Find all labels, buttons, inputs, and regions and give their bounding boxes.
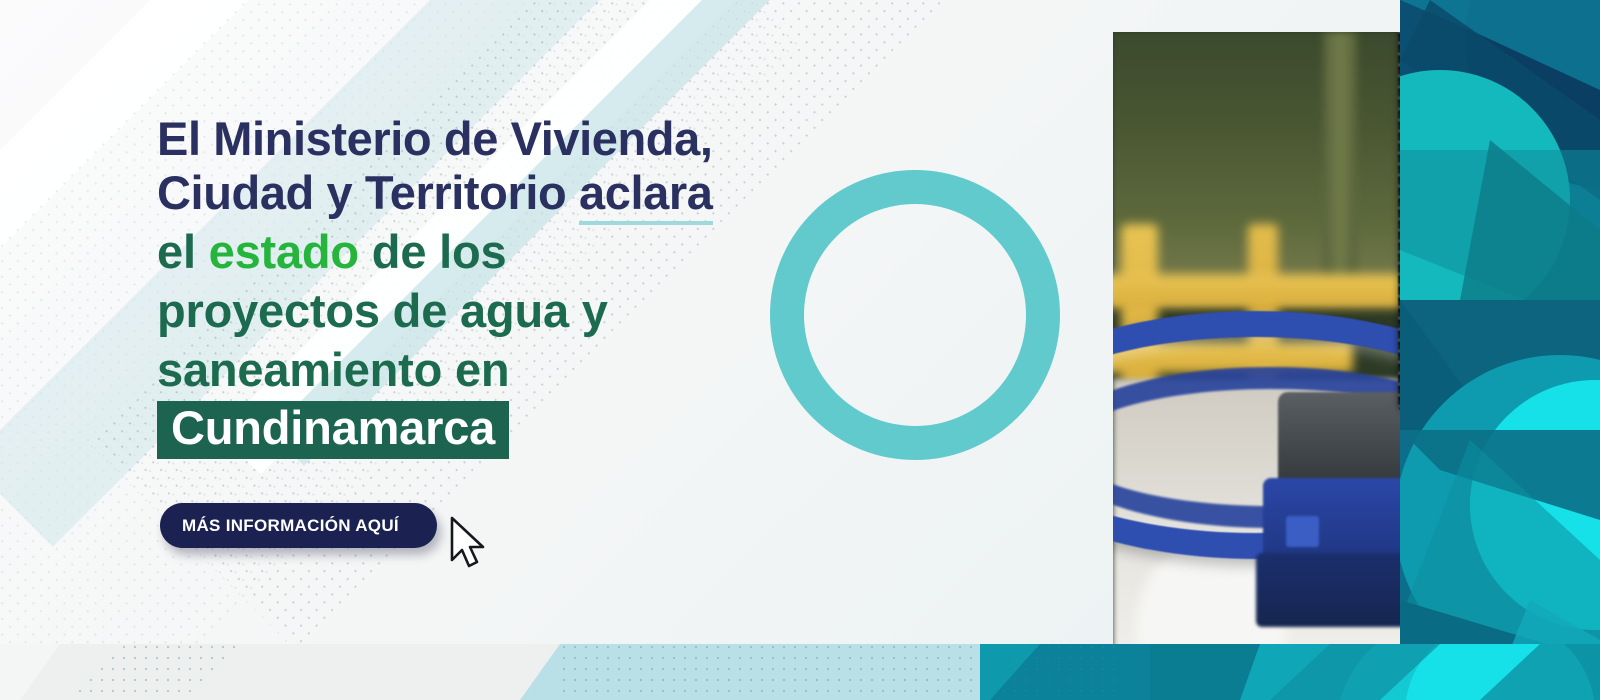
highlight-chip-cundinamarca: Cundinamarca [157,401,509,459]
cta-label: MÁS INFORMACIÓN AQUÍ [182,516,399,536]
subhead-line-2: proyectos de agua y [157,284,857,338]
bottom-teal-strip [0,644,1600,700]
photo-yellow-rail [1113,274,1413,308]
subhead-text-1a: el [157,225,209,278]
headline-text-2a: Ciudad y Territorio [157,166,579,219]
headline-line-1: El Ministerio de Vivienda, [157,112,857,166]
headline-line-2: Ciudad y Territorio aclara [157,166,857,220]
highlight-line: Cundinamarca [157,401,857,459]
subhead-text-1c: de los [359,225,506,278]
cta-area: MÁS INFORMACIÓN AQUÍ [160,503,437,548]
subhead-text-estado: estado [209,225,359,278]
subhead-line-3: saneamiento en [157,343,857,397]
headline-block: El Ministerio de Vivienda, Ciudad y Terr… [157,112,857,459]
headline-text-1: El Ministerio de Vivienda, [157,112,713,165]
photo-valve-bolt [1286,516,1320,547]
more-information-button[interactable]: MÁS INFORMACIÓN AQUÍ [160,503,437,548]
teal-geometric-shapes [1400,0,1600,700]
photo-pole [1323,32,1357,280]
headline-text-2b-underlined: aclara [579,166,713,225]
subhead-line-1: el estado de los [157,225,857,279]
promo-banner: El Ministerio de Vivienda, Ciudad y Terr… [0,0,1600,700]
